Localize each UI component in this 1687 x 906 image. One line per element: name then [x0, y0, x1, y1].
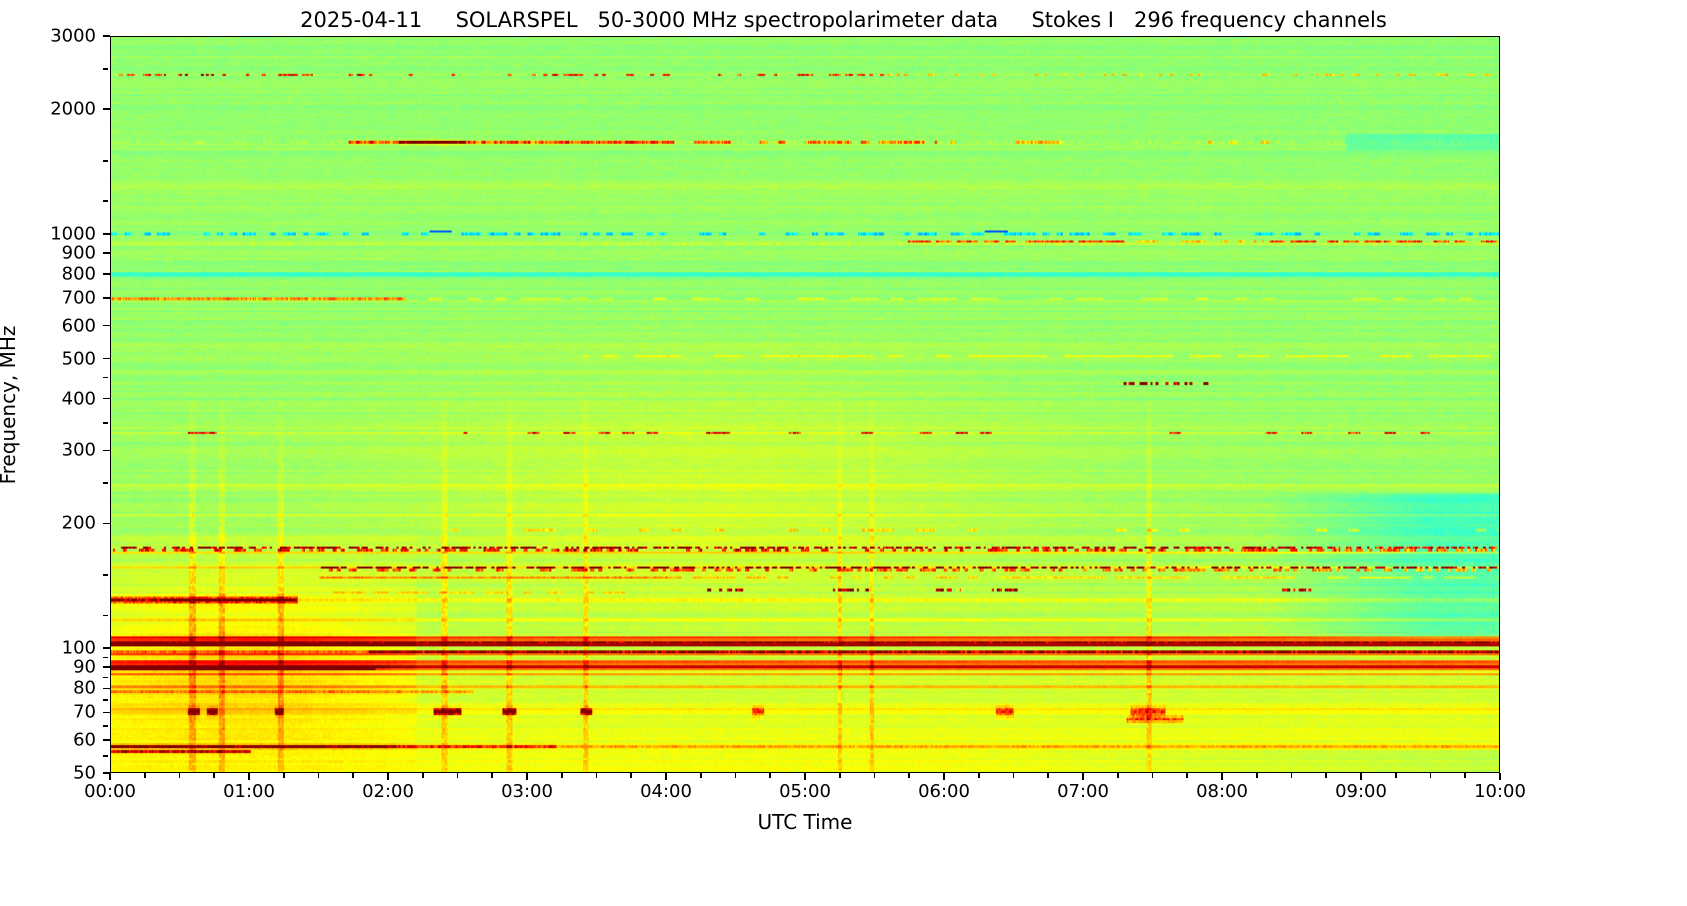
x-tick-mark [387, 773, 389, 780]
x-tick-mark-minor [457, 773, 459, 778]
x-tick-mark-minor [1047, 773, 1049, 778]
x-tick-mark [109, 773, 111, 780]
x-tick-mark-minor [422, 773, 424, 778]
x-tick-mark-minor [700, 773, 702, 778]
x-tick-mark [1360, 773, 1362, 780]
x-tick-mark [248, 773, 250, 780]
x-tick-mark-minor [1256, 773, 1258, 778]
x-tick-mark-minor [735, 773, 737, 778]
x-tick-label: 03:00 [501, 781, 553, 802]
x-tick-label: 09:00 [1335, 781, 1387, 802]
x-tick-mark-minor [630, 773, 632, 778]
x-tick-mark-minor [1395, 773, 1397, 778]
x-tick-mark [804, 773, 806, 780]
x-tick-mark-minor [318, 773, 320, 778]
x-tick-mark-minor [179, 773, 181, 778]
x-tick-mark-minor [283, 773, 285, 778]
x-tick-mark [665, 773, 667, 780]
x-tick-mark [943, 773, 945, 780]
x-tick-mark [1082, 773, 1084, 780]
x-tick-mark-minor [874, 773, 876, 778]
x-tick-mark-minor [769, 773, 771, 778]
x-tick-label: 06:00 [918, 781, 970, 802]
x-tick-label: 10:00 [1474, 781, 1526, 802]
x-tick-label: 08:00 [1196, 781, 1248, 802]
x-tick-mark-minor [1325, 773, 1327, 778]
x-tick-mark [526, 773, 528, 780]
x-tick-mark [1221, 773, 1223, 780]
x-tick-label: 00:00 [84, 781, 136, 802]
x-axis: 00:0001:0002:0003:0004:0005:0006:0007:00… [0, 0, 1687, 906]
x-tick-mark-minor [1430, 773, 1432, 778]
x-tick-label: 04:00 [640, 781, 692, 802]
x-tick-mark-minor [491, 773, 493, 778]
x-tick-mark-minor [1186, 773, 1188, 778]
x-axis-label: UTC Time [110, 810, 1500, 834]
x-tick-mark [1499, 773, 1501, 780]
x-tick-label: 01:00 [223, 781, 275, 802]
x-tick-mark-minor [1291, 773, 1293, 778]
x-tick-mark-minor [561, 773, 563, 778]
x-tick-mark-minor [213, 773, 215, 778]
x-tick-mark-minor [1117, 773, 1119, 778]
x-tick-mark-minor [1152, 773, 1154, 778]
x-tick-mark-minor [1464, 773, 1466, 778]
x-tick-mark-minor [978, 773, 980, 778]
x-tick-mark-minor [144, 773, 146, 778]
x-tick-label: 07:00 [1057, 781, 1109, 802]
x-tick-mark-minor [839, 773, 841, 778]
spectrogram-figure: 2025-04-11 SOLARSPEL 50-3000 MHz spectro… [0, 0, 1687, 906]
x-tick-mark-minor [596, 773, 598, 778]
x-tick-label: 02:00 [362, 781, 414, 802]
x-tick-label: 05:00 [779, 781, 831, 802]
x-tick-mark-minor [908, 773, 910, 778]
x-tick-mark-minor [1013, 773, 1015, 778]
x-tick-mark-minor [352, 773, 354, 778]
